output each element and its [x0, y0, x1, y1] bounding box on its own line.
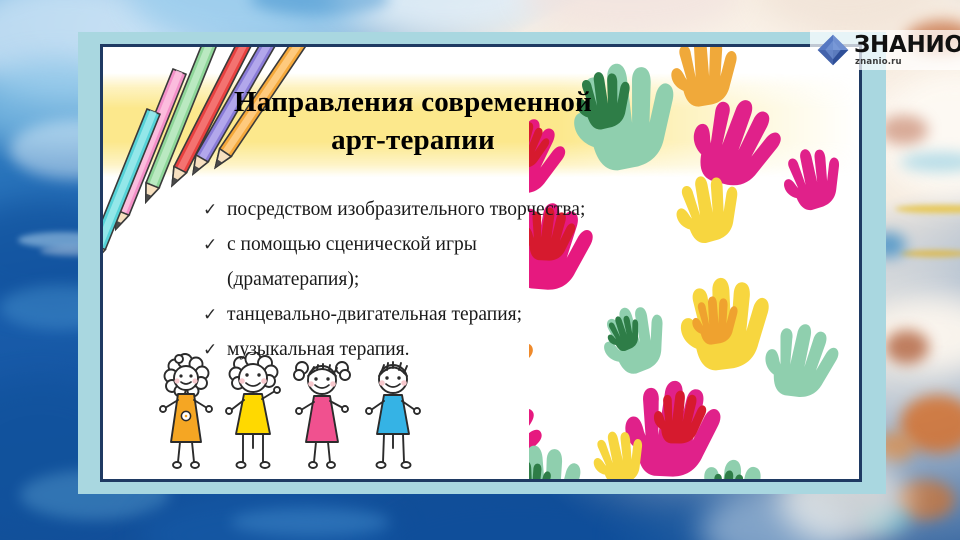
- list-item: ✓ танцевально-двигательная терапия;: [203, 302, 743, 328]
- znanio-logo[interactable]: ЗНАНИО znanio.ru: [810, 30, 960, 70]
- list-item-text: танцевально-двигательная терапия;: [227, 302, 522, 328]
- check-icon: ✓: [203, 232, 227, 258]
- handprint-green-edge: [760, 318, 843, 403]
- presentation-slide: Направления современной арт-терапии: [0, 0, 960, 540]
- child-girl-pink: [294, 362, 350, 468]
- list-item-text: с помощью сценической игры: [227, 232, 477, 258]
- list-item-text: посредством изобразительного творчества;: [227, 197, 585, 223]
- check-icon: ✓: [203, 197, 227, 223]
- page-title: Направления современной арт-терапии: [103, 83, 723, 159]
- list-item-text: музыкальная терапия.: [227, 337, 410, 363]
- list-item-continuation: (драматерапия);: [227, 267, 743, 293]
- title-line-2: арт-терапии: [103, 121, 723, 159]
- check-icon: ✓: [203, 337, 227, 363]
- logo-wordmark: ЗНАНИО: [854, 34, 960, 57]
- logo-url: znanio.ru: [855, 58, 960, 67]
- handprint-magenta-edge: [777, 142, 849, 215]
- list-item: ✓ с помощью сценической игры: [203, 232, 743, 258]
- check-icon: ✓: [203, 302, 227, 328]
- diamond-icon: [816, 33, 850, 67]
- logo-text: ЗНАНИО znanio.ru: [854, 34, 960, 67]
- list-item: ✓ музыкальная терапия.: [203, 337, 743, 363]
- title-line-1: Направления современной: [103, 83, 723, 121]
- child-boy-blue: [366, 362, 420, 468]
- slide-content-card: Направления современной арт-терапии: [100, 44, 862, 482]
- list-item: ✓ посредством изобразительного творчеств…: [203, 197, 743, 223]
- bullet-list: ✓ посредством изобразительного творчеств…: [203, 197, 743, 372]
